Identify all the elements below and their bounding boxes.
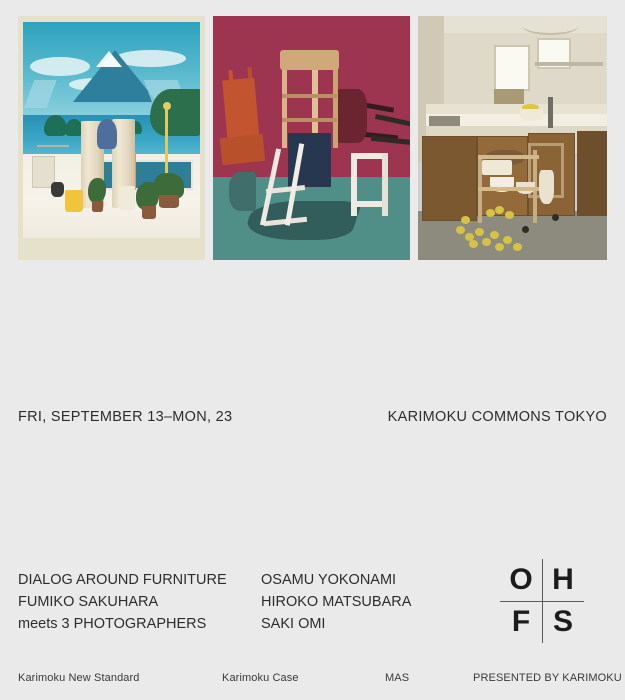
footer-brand-row: Karimoku New Standard Karimoku Case MAS … xyxy=(0,672,625,692)
photo-stacked-chairs xyxy=(213,16,410,260)
footer-brand-mas: MAS xyxy=(385,672,409,684)
photo-bathhouse-fuji-mural xyxy=(18,16,205,260)
credits-title-line-3: meets 3 PHOTOGRAPHERS xyxy=(18,614,261,636)
logo-horizontal-divider xyxy=(500,601,584,602)
photographer-name-1: OSAMU YOKONAMI xyxy=(261,570,461,592)
photographer-name-2: HIROKO MATSUBARA xyxy=(261,592,461,614)
credits-title-column: DIALOG AROUND FURNITURE FUMIKO SAKUHARA … xyxy=(18,570,261,635)
dates-venue-row: FRI, SEPTEMBER 13–MON, 23 KARIMOKU COMMO… xyxy=(18,409,607,425)
exhibition-dates: FRI, SEPTEMBER 13–MON, 23 xyxy=(18,409,232,425)
logo-letter-h: H xyxy=(542,559,584,601)
exhibition-venue: KARIMOKU COMMONS TOKYO xyxy=(388,409,607,425)
logo-letter-o: O xyxy=(500,559,542,601)
credits-title-line-2: FUMIKO SAKUHARA xyxy=(18,592,261,614)
ohfs-logo: O H F S xyxy=(500,559,584,643)
logo-letter-s: S xyxy=(542,601,584,643)
photographer-name-3: SAKI OMI xyxy=(261,614,461,636)
credits-title-line-1: DIALOG AROUND FURNITURE xyxy=(18,570,261,592)
footer-presented-by: PRESENTED BY KARIMOKU xyxy=(473,672,622,684)
logo-letter-f: F xyxy=(500,601,542,643)
credits-block: DIALOG AROUND FURNITURE FUMIKO SAKUHARA … xyxy=(18,570,461,635)
footer-brand-karimoku-case: Karimoku Case xyxy=(222,672,299,684)
footer-brand-karimoku-new-standard: Karimoku New Standard xyxy=(18,672,140,684)
photo-strip xyxy=(18,16,607,260)
exhibition-poster: FRI, SEPTEMBER 13–MON, 23 KARIMOKU COMMO… xyxy=(0,0,625,700)
photographers-column: OSAMU YOKONAMI HIROKO MATSUBARA SAKI OMI xyxy=(261,570,461,635)
photo-kitchen-lemons xyxy=(418,16,607,260)
